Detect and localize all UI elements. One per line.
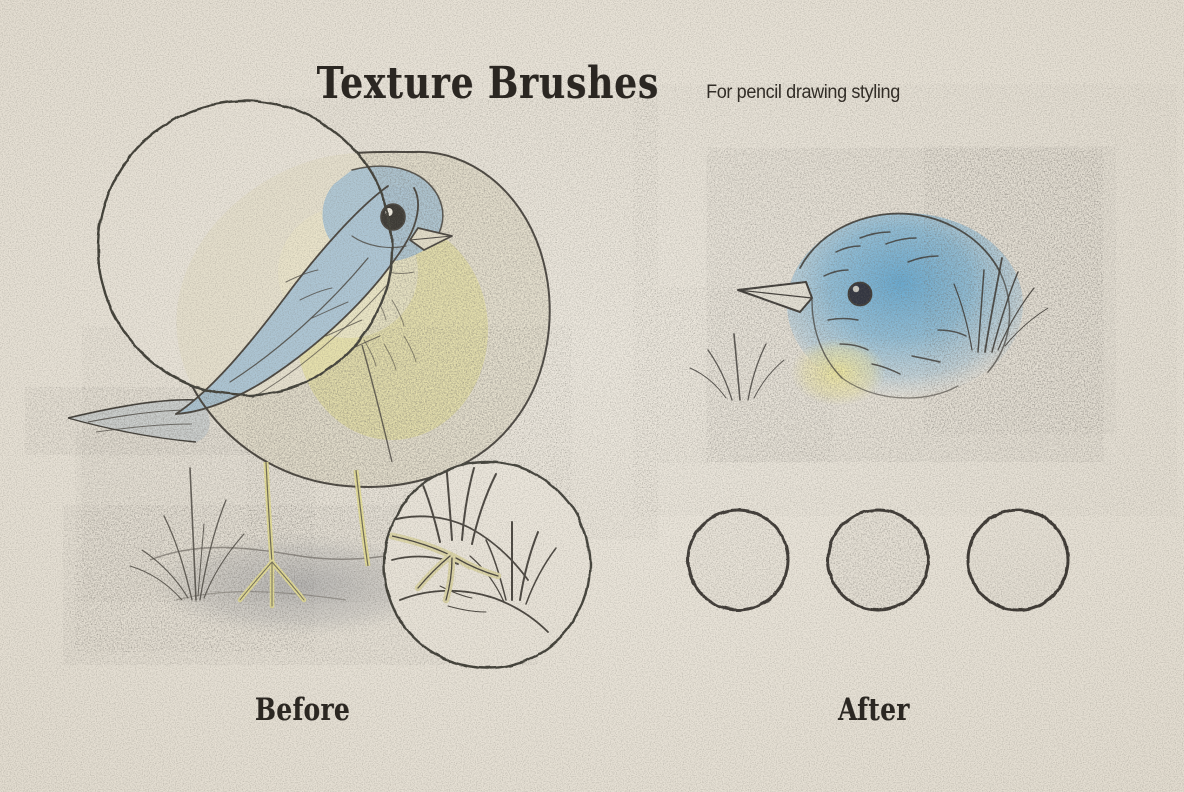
magnifier-foot xyxy=(384,462,590,668)
brush-swatch-fade[interactable] xyxy=(966,508,1070,612)
brush-swatch-fine[interactable] xyxy=(686,508,790,612)
caption-before: Before xyxy=(255,692,350,728)
grass-left-small xyxy=(690,334,784,400)
bird-illustration-before xyxy=(68,101,610,668)
bird-body xyxy=(176,152,550,487)
magnifier-foot-content xyxy=(384,462,590,668)
header-block: Texture Brushes For pencil drawing styli… xyxy=(0,62,1184,106)
after-bird-linework xyxy=(800,214,1010,398)
brush-swatch-row xyxy=(686,508,1070,612)
grass-tuft-left-texture xyxy=(120,470,270,610)
bird-illustration-after xyxy=(690,165,1080,435)
grass-tuft-left xyxy=(130,468,244,600)
paper-grain-overlay xyxy=(0,0,1184,792)
paper-vignette xyxy=(0,0,1184,792)
brush-swatch-coarse[interactable] xyxy=(826,508,930,612)
page-title: Texture Brushes xyxy=(317,62,659,106)
bird-tail xyxy=(68,400,210,442)
bird-legs xyxy=(240,462,368,606)
bird-linework xyxy=(176,152,550,487)
caption-after: After xyxy=(838,692,910,728)
artwork-layer xyxy=(0,0,1184,792)
magnifier-head xyxy=(68,101,550,487)
ground-shadow xyxy=(150,533,450,637)
bird-beak-before xyxy=(410,228,452,250)
poster-canvas: Texture Brushes For pencil drawing styli… xyxy=(0,0,1184,792)
before-texture-outside xyxy=(130,140,610,560)
bird-eye-after xyxy=(849,283,872,306)
grass-right xyxy=(954,258,1048,352)
bird-beak-after xyxy=(738,282,812,312)
magnifier-connector xyxy=(362,345,392,462)
bird-eye-before xyxy=(381,204,405,230)
page-subtitle: For pencil drawing styling xyxy=(706,82,900,104)
